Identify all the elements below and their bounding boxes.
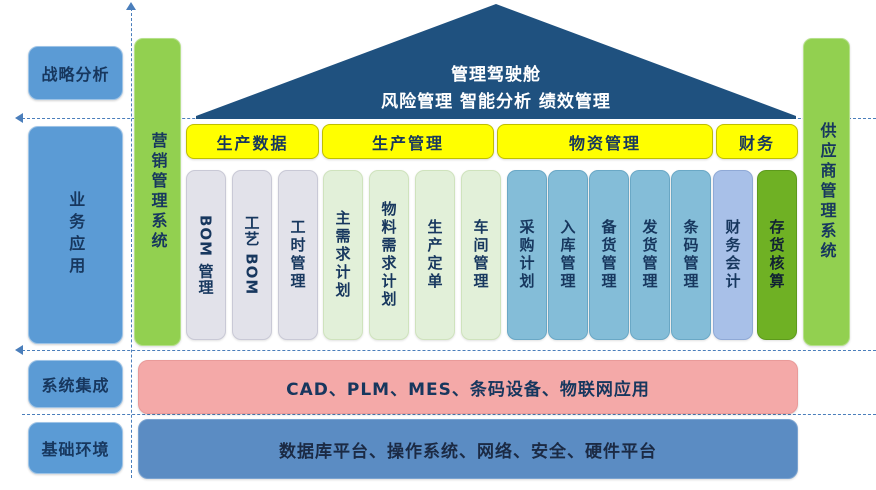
module-column-process-bom-label: 工艺 BOM [242, 215, 263, 295]
group-bar-production-data[interactable]: 生产数据 [186, 124, 319, 159]
module-column-process-bom[interactable]: 工艺 BOM [232, 170, 272, 340]
guide-arrow-left-2 [15, 345, 23, 355]
module-column-material-req-plan[interactable]: 物料需求计划 [369, 170, 409, 340]
layer-label-strategy[interactable]: 战略分析 [28, 46, 123, 100]
group-bar-material-mgmt[interactable]: 物资管理 [497, 124, 713, 159]
group-bar-finance-label: 财务 [739, 130, 775, 154]
integration-bar-label: CAD、PLM、MES、条码设备、物联网应用 [286, 375, 650, 400]
pillar-supplier-system[interactable]: 供应商管理系统 [803, 38, 850, 346]
module-column-stock-prep-mgmt-label: 备货管理 [599, 219, 620, 291]
module-column-purchase-plan[interactable]: 采购计划 [507, 170, 547, 340]
guide-line-business-integration [22, 350, 876, 351]
module-column-bom-mgmt[interactable]: BOM 管理 [186, 170, 226, 340]
layer-label-integration-text: 系统集成 [41, 372, 109, 396]
module-column-inbound-mgmt[interactable]: 入库管理 [548, 170, 588, 340]
module-column-bom-mgmt-label: BOM 管理 [196, 215, 217, 295]
infrastructure-bar[interactable]: 数据库平台、操作系统、网络、安全、硬件平台 [138, 419, 798, 479]
group-bar-finance[interactable]: 财务 [716, 124, 798, 159]
module-column-inventory-acct-label: 存货核算 [767, 219, 788, 291]
module-column-workshop-mgmt[interactable]: 车间管理 [461, 170, 501, 340]
layer-label-infrastructure[interactable]: 基础环境 [28, 422, 123, 474]
infrastructure-bar-label: 数据库平台、操作系统、网络、安全、硬件平台 [279, 437, 657, 462]
module-column-labor-hour-mgmt[interactable]: 工时管理 [278, 170, 318, 340]
layer-label-business[interactable]: 业务应用 [28, 126, 123, 344]
pillar-supplier-system-label: 供应商管理系统 [815, 122, 839, 262]
module-column-material-req-plan-label: 物料需求计划 [379, 201, 400, 309]
module-column-shipping-mgmt[interactable]: 发货管理 [630, 170, 670, 340]
integration-bar[interactable]: CAD、PLM、MES、条码设备、物联网应用 [138, 360, 798, 414]
guide-line-vertical [131, 8, 132, 478]
roof-triangle [196, 4, 796, 119]
layer-label-business-text: 业务应用 [67, 191, 85, 279]
guide-arrow-up [126, 2, 136, 10]
module-column-purchase-plan-label: 采购计划 [517, 219, 538, 291]
module-column-production-order-label: 生产定单 [425, 219, 446, 291]
guide-line-integration-infra [22, 414, 876, 415]
group-bar-production-mgmt-label: 生产管理 [372, 130, 444, 154]
module-column-master-demand-plan-label: 主需求计划 [333, 210, 354, 300]
module-column-workshop-mgmt-label: 车间管理 [471, 219, 492, 291]
module-column-financial-acct-label: 财务会计 [723, 219, 744, 291]
layer-label-strategy-text: 战略分析 [41, 61, 109, 85]
module-column-inbound-mgmt-label: 入库管理 [558, 219, 579, 291]
group-bar-material-mgmt-label: 物资管理 [569, 130, 641, 154]
module-column-labor-hour-mgmt-label: 工时管理 [288, 219, 309, 291]
module-column-production-order[interactable]: 生产定单 [415, 170, 455, 340]
layer-label-integration[interactable]: 系统集成 [28, 360, 123, 408]
module-column-inventory-acct[interactable]: 存货核算 [757, 170, 797, 340]
group-bar-production-data-label: 生产数据 [216, 130, 288, 154]
pillar-marketing-system-label: 营销管理系统 [146, 132, 170, 252]
module-column-barcode-mgmt-label: 条码管理 [681, 219, 702, 291]
module-column-barcode-mgmt[interactable]: 条码管理 [671, 170, 711, 340]
module-column-master-demand-plan[interactable]: 主需求计划 [323, 170, 363, 340]
architecture-diagram: 战略分析 业务应用 系统集成 基础环境 营销管理系统 供应商管理系统 管理驾驶舱… [0, 0, 876, 490]
layer-label-infrastructure-text: 基础环境 [41, 436, 109, 460]
module-column-stock-prep-mgmt[interactable]: 备货管理 [589, 170, 629, 340]
module-column-financial-acct[interactable]: 财务会计 [713, 170, 753, 340]
guide-arrow-left-1 [15, 113, 23, 123]
module-column-shipping-mgmt-label: 发货管理 [640, 219, 661, 291]
group-bar-production-mgmt[interactable]: 生产管理 [322, 124, 494, 159]
pillar-marketing-system[interactable]: 营销管理系统 [134, 38, 181, 346]
